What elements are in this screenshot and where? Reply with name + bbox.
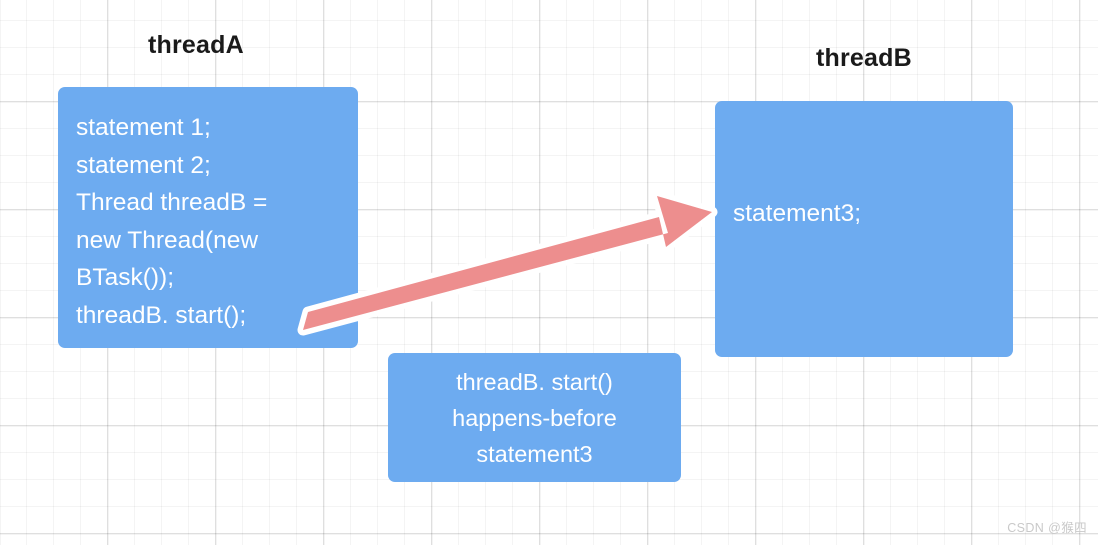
arrow-body-shape [303,196,712,330]
thread-a-code-box: statement 1; statement 2; Thread threadB… [58,87,358,348]
thread-b-title: threadB [816,46,912,71]
code-line: new Thread(new [76,222,358,260]
arrow-outline-shape [303,196,712,330]
diagram-canvas: threadA threadB statement 1; statement 2… [0,0,1098,545]
csdn-watermark: CSDN @猴四 [1007,517,1087,536]
thread-b-code-box: statement3; [715,101,1013,357]
code-line: statement3; [733,199,861,229]
code-line: statement 1; [76,109,358,147]
code-line: statement 2; [76,147,358,185]
annotation-line: statement3 [476,436,592,472]
happens-before-annotation-box: threadB. start() happens-before statemen… [388,353,681,482]
annotation-line: happens-before [452,400,617,436]
code-line: BTask()); [76,259,358,297]
code-line: Thread threadB = [76,184,358,222]
thread-a-title: threadA [148,33,244,58]
code-line: threadB. start(); [76,297,358,335]
annotation-line: threadB. start() [456,364,613,400]
